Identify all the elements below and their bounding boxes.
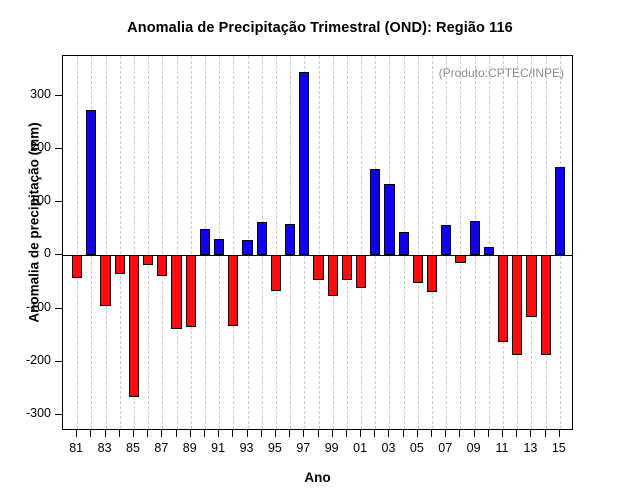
- x-tick-mark: [502, 430, 503, 437]
- y-tick-label: -200: [7, 353, 51, 367]
- bar-13: [526, 255, 536, 317]
- bar-12: [512, 255, 522, 354]
- bar-15: [555, 167, 565, 256]
- y-axis-label: Anomalia de precipitação (mm): [27, 93, 42, 353]
- bar-00: [342, 255, 352, 279]
- x-tick-mark: [90, 430, 91, 437]
- bar-14: [541, 255, 551, 355]
- y-tick-mark: [55, 201, 62, 202]
- gridline: [120, 56, 121, 429]
- source-annotation: (Produto:CPTEC/INPE): [439, 66, 564, 80]
- gridline: [319, 56, 320, 429]
- bar-99: [328, 255, 338, 296]
- bar-83: [100, 255, 110, 306]
- chart-figure: Anomalia de Precipitação Trimestral (OND…: [0, 0, 640, 500]
- gridline: [276, 56, 277, 429]
- page-title: Anomalia de Precipitação Trimestral (OND…: [0, 20, 640, 36]
- x-tick-mark: [76, 430, 77, 437]
- gridline: [503, 56, 504, 429]
- bar-93: [242, 240, 252, 256]
- gridline: [361, 56, 362, 429]
- x-tick-mark: [232, 430, 233, 437]
- x-tick-mark: [516, 430, 517, 437]
- gridline: [148, 56, 149, 429]
- gridline: [191, 56, 192, 429]
- x-tick-mark: [530, 430, 531, 437]
- bar-02: [370, 169, 380, 256]
- x-tick-mark: [275, 430, 276, 437]
- bar-81: [72, 255, 82, 277]
- x-tick-mark: [459, 430, 460, 437]
- x-tick-mark: [374, 430, 375, 437]
- x-tick-mark: [133, 430, 134, 437]
- bar-97: [299, 72, 309, 255]
- plot-area: (Produto:CPTEC/INPE): [62, 55, 573, 430]
- bar-06: [427, 255, 437, 291]
- x-tick-mark: [332, 430, 333, 437]
- x-tick-mark: [204, 430, 205, 437]
- x-tick-mark: [176, 430, 177, 437]
- bar-87: [157, 255, 167, 276]
- bar-11: [498, 255, 508, 342]
- bar-04: [399, 232, 409, 255]
- bar-07: [441, 225, 451, 256]
- x-tick-mark: [261, 430, 262, 437]
- gridline: [517, 56, 518, 429]
- bar-95: [271, 255, 281, 290]
- bar-89: [186, 255, 196, 326]
- x-tick-mark: [318, 430, 319, 437]
- gridline: [233, 56, 234, 429]
- bar-05: [413, 255, 423, 283]
- gridline: [333, 56, 334, 429]
- gridline: [531, 56, 532, 429]
- x-tick-mark: [247, 430, 248, 437]
- x-tick-mark: [474, 430, 475, 437]
- gridline: [460, 56, 461, 429]
- bar-90: [200, 229, 210, 256]
- y-tick-mark: [55, 95, 62, 96]
- x-tick-mark: [147, 430, 148, 437]
- bar-86: [143, 255, 153, 265]
- x-tick-mark: [218, 430, 219, 437]
- y-tick-mark: [55, 361, 62, 362]
- x-axis-label: Ano: [62, 470, 573, 485]
- x-tick-mark: [559, 430, 560, 437]
- bar-01: [356, 255, 366, 288]
- bar-96: [285, 224, 295, 255]
- x-tick-mark: [488, 430, 489, 437]
- x-tick-mark: [346, 430, 347, 437]
- bar-92: [228, 255, 238, 326]
- x-tick-label: 15: [539, 441, 579, 455]
- x-tick-mark: [105, 430, 106, 437]
- x-tick-mark: [303, 430, 304, 437]
- x-tick-mark: [388, 430, 389, 437]
- bar-82: [86, 110, 96, 256]
- bar-09: [470, 221, 480, 255]
- x-tick-mark: [403, 430, 404, 437]
- gridline: [418, 56, 419, 429]
- gridline: [77, 56, 78, 429]
- bar-85: [129, 255, 139, 396]
- x-tick-mark: [289, 430, 290, 437]
- bar-10: [484, 247, 494, 255]
- y-tick-label: -300: [7, 406, 51, 420]
- y-tick-mark: [55, 308, 62, 309]
- bar-88: [171, 255, 181, 328]
- gridline: [432, 56, 433, 429]
- gridline: [177, 56, 178, 429]
- bar-91: [214, 239, 224, 255]
- x-tick-mark: [417, 430, 418, 437]
- y-tick-mark: [55, 148, 62, 149]
- bar-08: [455, 255, 465, 262]
- gridline: [347, 56, 348, 429]
- x-tick-mark: [161, 430, 162, 437]
- gridline: [489, 56, 490, 429]
- y-tick-mark: [55, 414, 62, 415]
- gridline: [106, 56, 107, 429]
- bar-03: [384, 184, 394, 256]
- x-tick-mark: [190, 430, 191, 437]
- bar-84: [115, 255, 125, 274]
- x-tick-mark: [445, 430, 446, 437]
- y-tick-mark: [55, 254, 62, 255]
- gridline: [546, 56, 547, 429]
- bar-98: [313, 255, 323, 280]
- x-tick-mark: [431, 430, 432, 437]
- bar-94: [257, 222, 267, 256]
- x-tick-mark: [119, 430, 120, 437]
- gridline: [162, 56, 163, 429]
- x-tick-mark: [545, 430, 546, 437]
- x-tick-mark: [360, 430, 361, 437]
